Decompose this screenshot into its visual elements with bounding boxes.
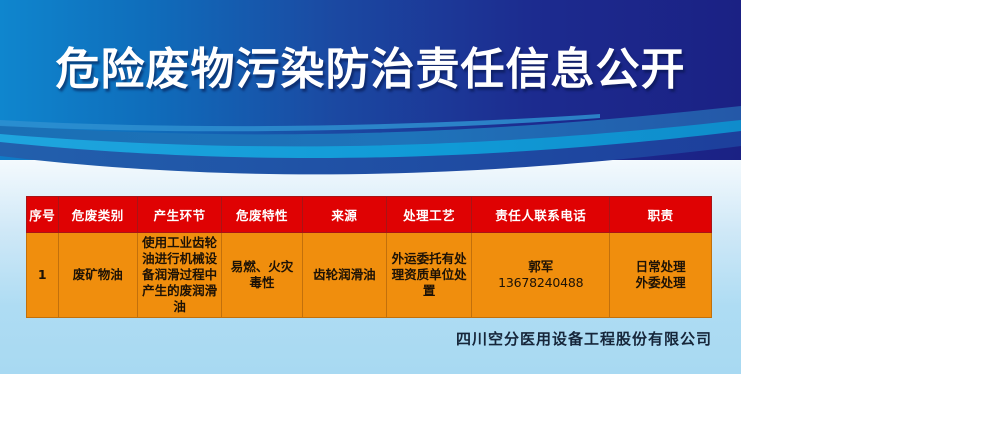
responsible-person-phone: 13678240488 bbox=[475, 275, 606, 291]
table-header-row: 序号 危废类别 产生环节 危废特性 来源 处理工艺 责任人联系电话 职责 bbox=[27, 197, 712, 233]
column-header-duty: 职责 bbox=[610, 197, 712, 233]
column-header-contact-phone: 责任人联系电话 bbox=[472, 197, 610, 233]
column-header-stage: 产生环节 bbox=[138, 197, 222, 233]
cell-category: 废矿物油 bbox=[58, 233, 137, 318]
column-header-serial: 序号 bbox=[27, 197, 59, 233]
cell-treatment-process: 外运委托有处理资质单位处置 bbox=[387, 233, 472, 318]
poster-banner: 危险废物污染防治责任信息公开 bbox=[0, 0, 741, 175]
cell-generation-stage: 使用工业齿轮油进行机械设备润滑过程中产生的废润滑油 bbox=[138, 233, 222, 318]
cell-responsible-contact: 郭军 13678240488 bbox=[472, 233, 610, 318]
column-header-process: 处理工艺 bbox=[387, 197, 472, 233]
cell-duty: 日常处理 外委处理 bbox=[610, 233, 712, 318]
hazardous-waste-table-wrapper: 序号 危废类别 产生环节 危废特性 来源 处理工艺 责任人联系电话 职责 1 废… bbox=[26, 196, 712, 318]
cell-serial: 1 bbox=[27, 233, 59, 318]
duty-line-1: 日常处理 bbox=[613, 259, 708, 275]
duty-line-2: 外委处理 bbox=[613, 275, 708, 291]
cell-hazard-property: 易燃、火灾毒性 bbox=[222, 233, 303, 318]
column-header-hazard: 危废特性 bbox=[222, 197, 303, 233]
table-row: 1 废矿物油 使用工业齿轮油进行机械设备润滑过程中产生的废润滑油 易燃、火灾毒性… bbox=[27, 233, 712, 318]
responsible-person-name: 郭军 bbox=[475, 259, 606, 275]
page-title: 危险废物污染防治责任信息公开 bbox=[0, 48, 741, 92]
hazardous-waste-table: 序号 危废类别 产生环节 危废特性 来源 处理工艺 责任人联系电话 职责 1 废… bbox=[26, 196, 712, 318]
cell-source: 齿轮润滑油 bbox=[302, 233, 386, 318]
column-header-category: 危废类别 bbox=[58, 197, 137, 233]
column-header-source: 来源 bbox=[302, 197, 386, 233]
poster: 危险废物污染防治责任信息公开 序号 危废类别 产生环节 危废特性 bbox=[0, 0, 741, 374]
company-name: 四川空分医用设备工程股份有限公司 bbox=[0, 328, 712, 349]
